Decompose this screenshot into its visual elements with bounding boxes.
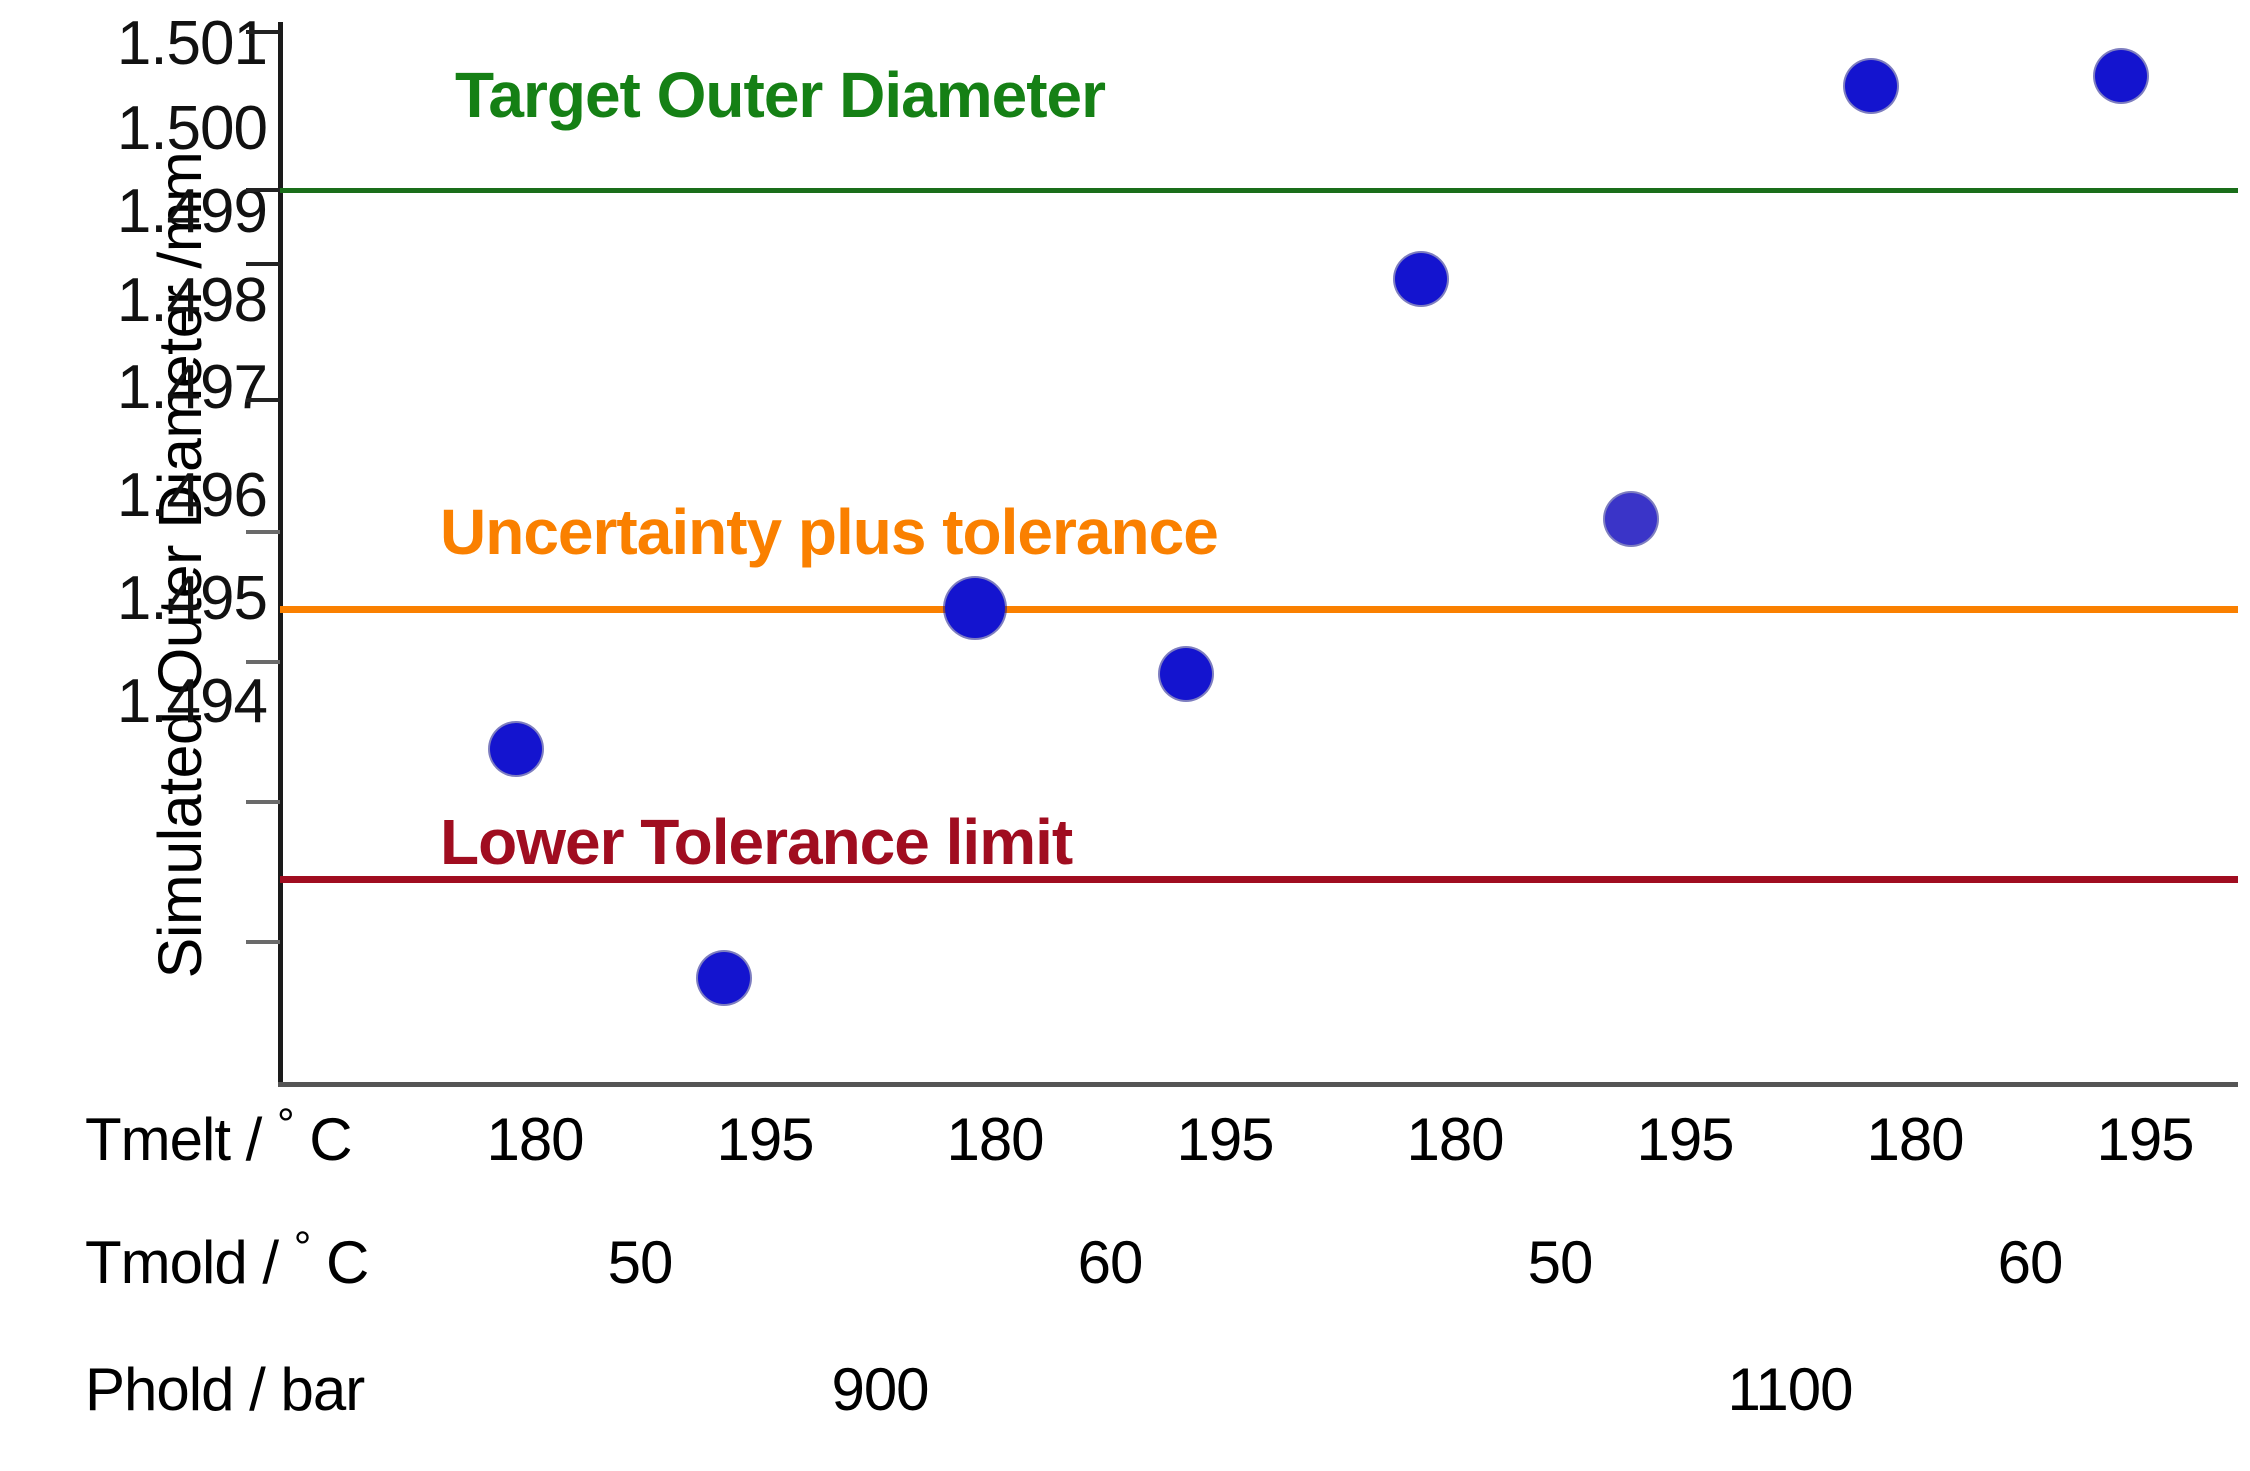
- data-point[interactable]: [945, 578, 1005, 638]
- y-axis-line: [278, 22, 283, 1082]
- factor-label-phold: Phold / bar: [85, 1355, 364, 1424]
- factor-value-tmelt: 180: [1866, 1105, 1963, 1174]
- data-point[interactable]: [1160, 648, 1212, 700]
- data-point[interactable]: [698, 952, 750, 1004]
- y-tick-mark-1496: [246, 660, 280, 664]
- y-tick-label-1499: 1.499: [27, 176, 267, 247]
- y-tick-mark-1497: [246, 530, 280, 534]
- factor-value-tmold: 60: [1998, 1228, 2063, 1297]
- factor-row-tmelt: Tmelt / ° C 180 195 180 195 180 195 180 …: [0, 1105, 2250, 1215]
- factor-value-phold: 1100: [1727, 1355, 1852, 1424]
- y-tick-label-1494: 1.494: [27, 666, 267, 737]
- factor-value-tmelt: 180: [486, 1105, 583, 1174]
- y-tick-mark-1501: [246, 30, 280, 34]
- chart-root: Simulated Outer Diameter /mm 1.501 1.500…: [0, 0, 2250, 1471]
- factor-label-tmelt: Tmelt / ° C: [85, 1105, 352, 1174]
- data-point[interactable]: [1845, 60, 1897, 112]
- factor-value-tmold: 50: [608, 1228, 673, 1297]
- y-tick-label-1496: 1.496: [27, 460, 267, 531]
- factor-value-tmelt: 195: [716, 1105, 813, 1174]
- factor-label-tmold: Tmold / ° C: [85, 1228, 368, 1297]
- y-tick-mark-1494: [246, 940, 280, 944]
- y-tick-label-1498: 1.498: [27, 265, 267, 336]
- y-tick-label-1495: 1.495: [27, 563, 267, 634]
- y-tick-mark-1495: [246, 800, 280, 804]
- factor-value-tmelt: 195: [1636, 1105, 1733, 1174]
- lower-tolerance-limit-label: Lower Tolerance limit: [440, 805, 1072, 879]
- factor-value-tmold: 50: [1528, 1228, 1593, 1297]
- y-tick-label-1500: 1.500: [27, 93, 267, 164]
- target-outer-diameter-line: [280, 188, 2238, 193]
- y-tick-mark-1499: [246, 262, 280, 266]
- data-point[interactable]: [1395, 253, 1447, 305]
- data-point[interactable]: [490, 723, 542, 775]
- factor-row-tmold: Tmold / ° C 50 60 50 60: [0, 1228, 2250, 1338]
- y-tick-mark-1500: [246, 188, 280, 192]
- uncertainty-plus-tolerance-label: Uncertainty plus tolerance: [440, 495, 1218, 569]
- factor-value-tmelt: 195: [1176, 1105, 1273, 1174]
- uncertainty-plus-tolerance-line: [280, 606, 2238, 613]
- y-tick-mark-1498: [246, 398, 280, 402]
- y-tick-label-1497: 1.497: [27, 352, 267, 423]
- x-axis-line: [278, 1082, 2238, 1087]
- target-outer-diameter-label: Target Outer Diameter: [455, 58, 1105, 132]
- y-tick-label-1501: 1.501: [27, 8, 267, 79]
- factor-value-tmelt: 180: [946, 1105, 1043, 1174]
- factor-value-phold: 900: [831, 1355, 928, 1424]
- factor-value-tmold: 60: [1078, 1228, 1143, 1297]
- factor-value-tmelt: 180: [1406, 1105, 1503, 1174]
- factor-value-tmelt: 195: [2096, 1105, 2193, 1174]
- data-point[interactable]: [1605, 493, 1657, 545]
- factor-row-phold: Phold / bar 900 1100: [0, 1355, 2250, 1465]
- data-point[interactable]: [2095, 50, 2147, 102]
